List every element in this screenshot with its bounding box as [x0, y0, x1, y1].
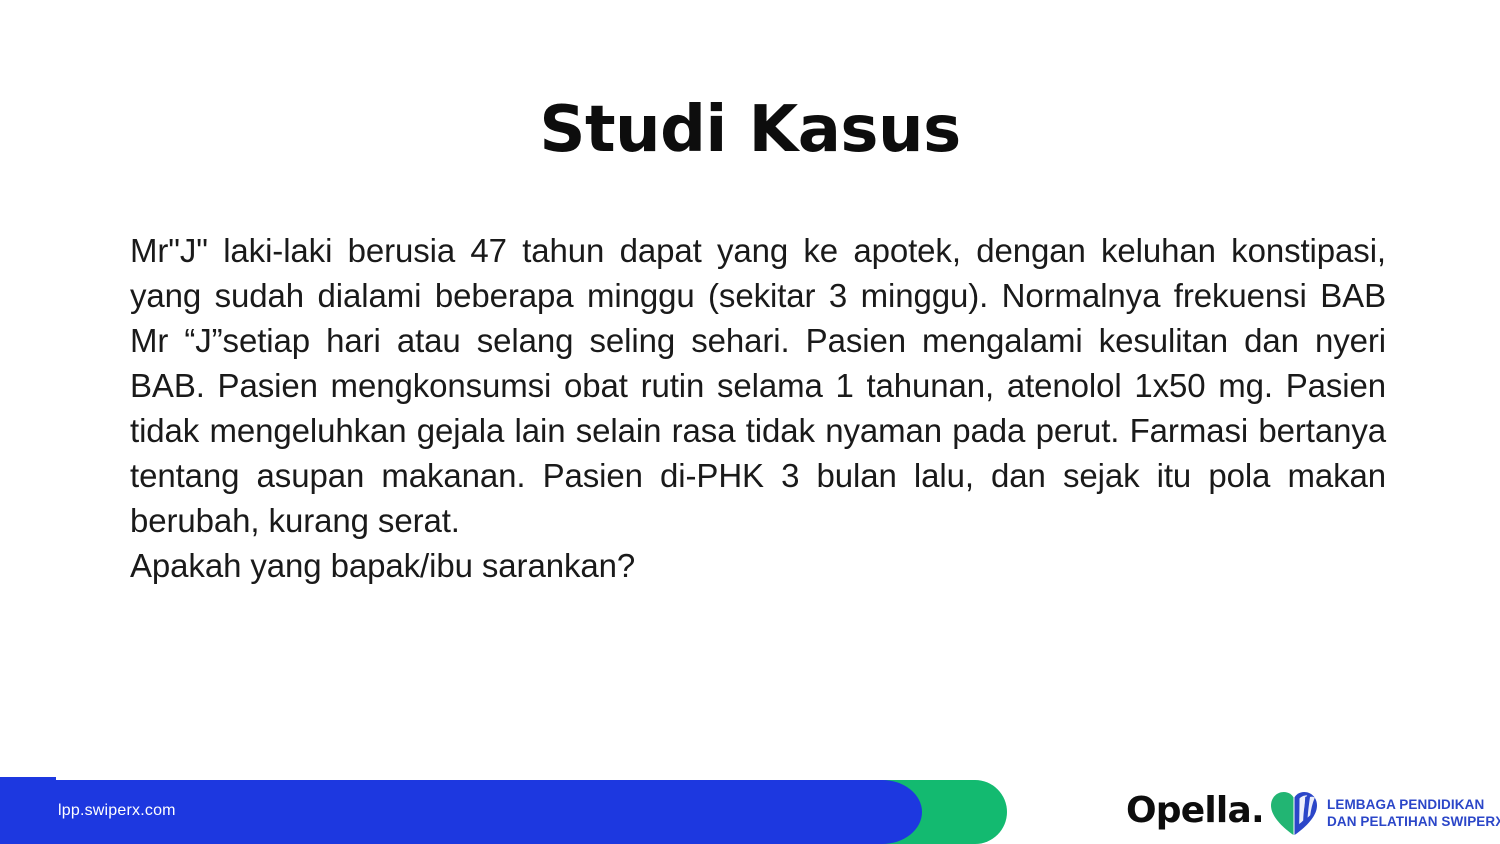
case-study-body: Mr"J" laki-laki berusia 47 tahun dapat y…	[130, 228, 1386, 588]
lpp-wordmark-line-1: LEMBAGA PENDIDIKAN	[1327, 797, 1500, 813]
footer-url: lpp.swiperx.com	[58, 800, 176, 822]
heart-book-logo-icon	[1268, 789, 1320, 837]
lpp-swiperx-logo: LEMBAGA PENDIDIKAN DAN PELATIHAN SWIPERX	[1268, 789, 1500, 837]
opella-wordmark: Opella.	[1126, 791, 1264, 831]
case-study-paragraph: Mr"J" laki-laki berusia 47 tahun dapat y…	[130, 228, 1386, 543]
slide-canvas: Studi Kasus Mr"J" laki-laki berusia 47 t…	[0, 0, 1500, 844]
lpp-wordmark: LEMBAGA PENDIDIKAN DAN PELATIHAN SWIPERX	[1327, 797, 1500, 830]
case-study-question: Apakah yang bapak/ibu sarankan?	[130, 543, 1386, 588]
lpp-wordmark-line-2: DAN PELATIHAN SWIPERX	[1327, 814, 1500, 830]
page-title: Studi Kasus	[0, 97, 1500, 164]
footer-blue-notch	[0, 777, 56, 789]
